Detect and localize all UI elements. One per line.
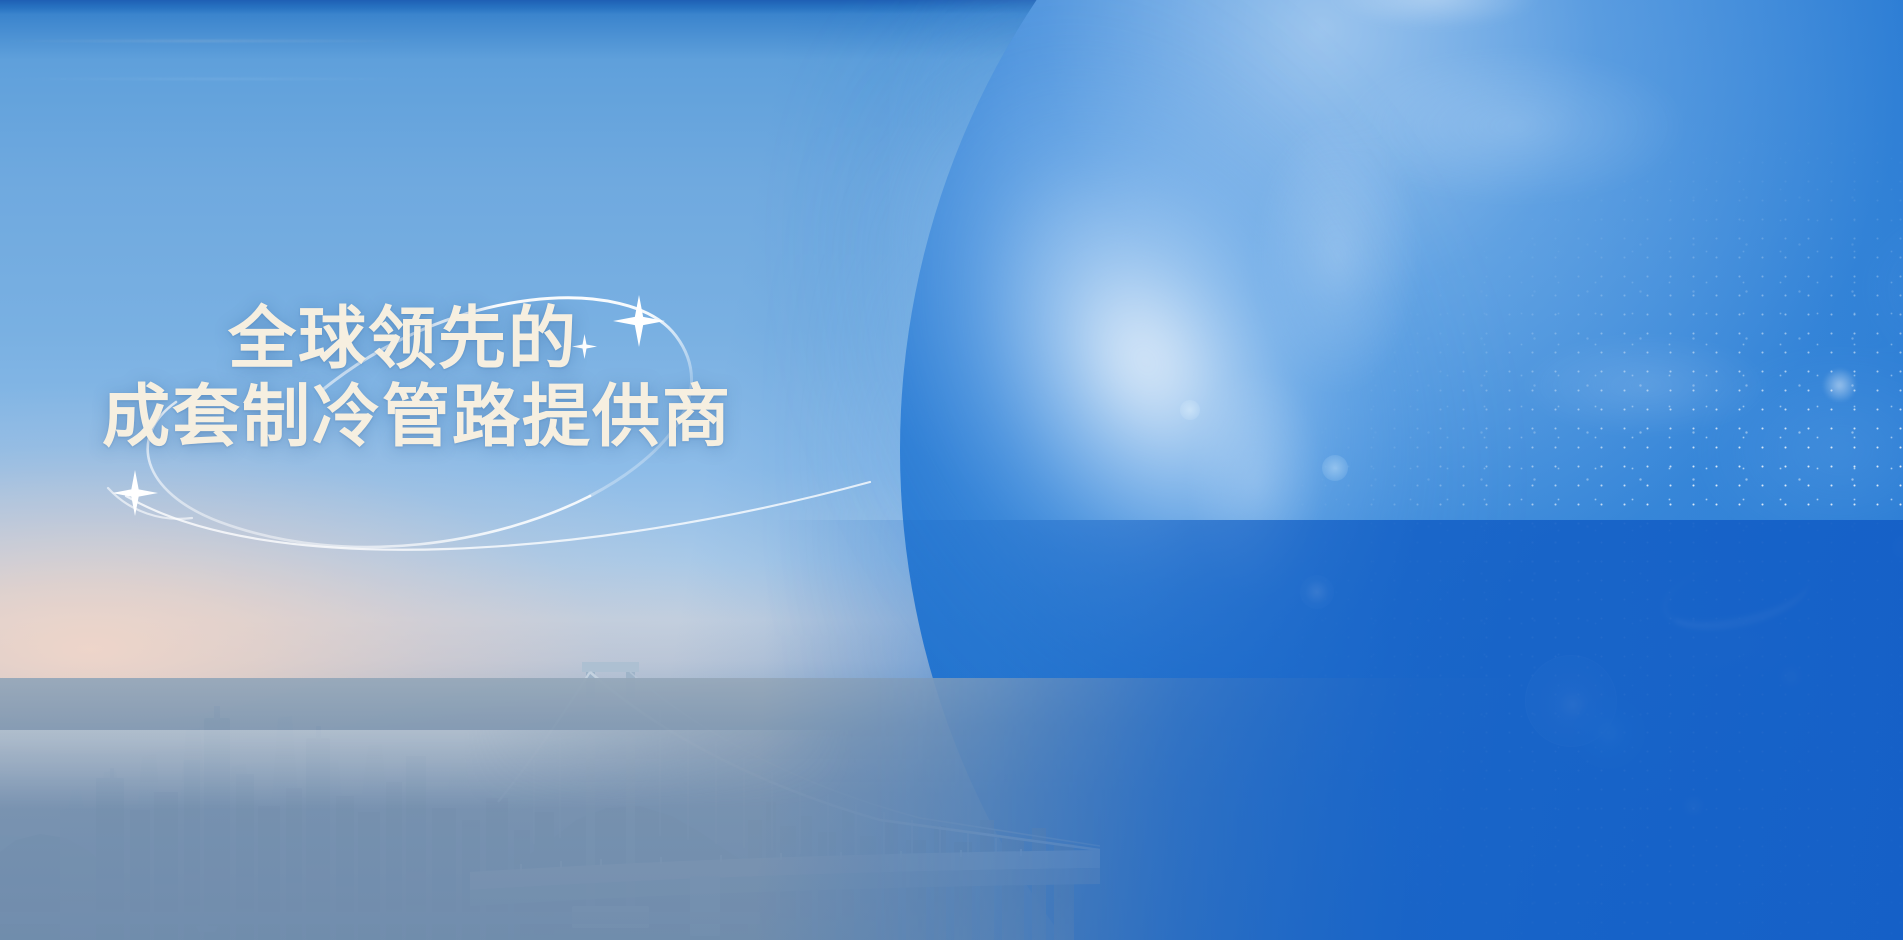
hero-headline: 全球领先的 成套制冷管路提供商 [102,300,862,456]
scene-blue-overlay [0,520,1903,940]
hero-banner: 全球领先的 成套制冷管路提供商 [0,0,1903,940]
sparkle-star-icon [112,470,158,516]
lens-flare-orb [1180,400,1200,420]
top-edge-band [0,0,1903,14]
headline-line-2: 成套制冷管路提供商 [102,378,862,456]
headline-line-1: 全球领先的 [228,300,862,378]
lens-flare-streaks [0,0,420,200]
lens-flare-orb [1322,455,1348,481]
